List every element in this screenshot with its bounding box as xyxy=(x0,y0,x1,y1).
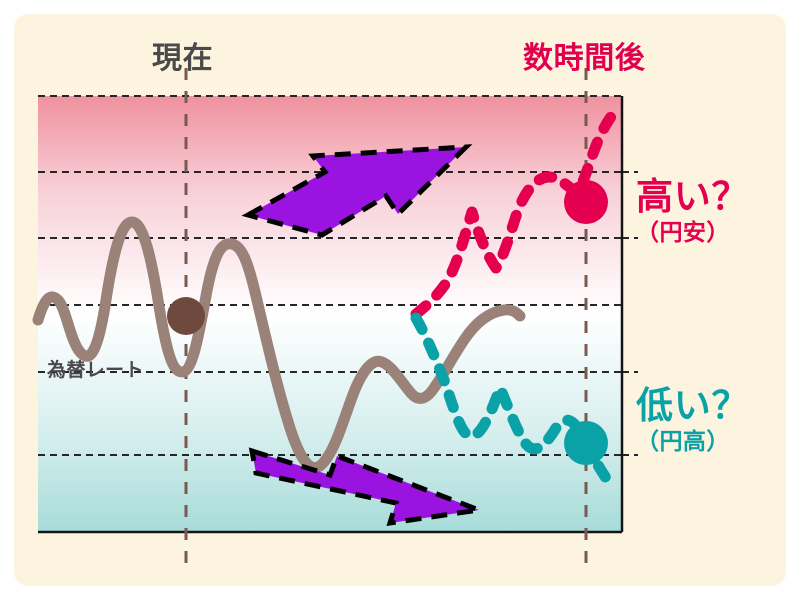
label-high-sub: （円安） xyxy=(636,213,730,247)
label-low-sub: （円高） xyxy=(636,422,730,456)
high-marker xyxy=(564,180,608,224)
label-high: 高い？ xyxy=(636,166,749,220)
label-low: 低い？ xyxy=(636,375,749,429)
now-marker xyxy=(167,297,205,335)
low-marker xyxy=(564,421,608,465)
infographic-canvas: 現在 数時間後 為替レート 高い？ （円安） 低い？ （円高） xyxy=(0,0,800,600)
label-now: 現在 xyxy=(152,33,213,77)
chart-svg xyxy=(0,0,800,600)
label-future: 数時間後 xyxy=(523,33,645,77)
label-exchange-rate: 為替レート xyxy=(47,355,144,382)
